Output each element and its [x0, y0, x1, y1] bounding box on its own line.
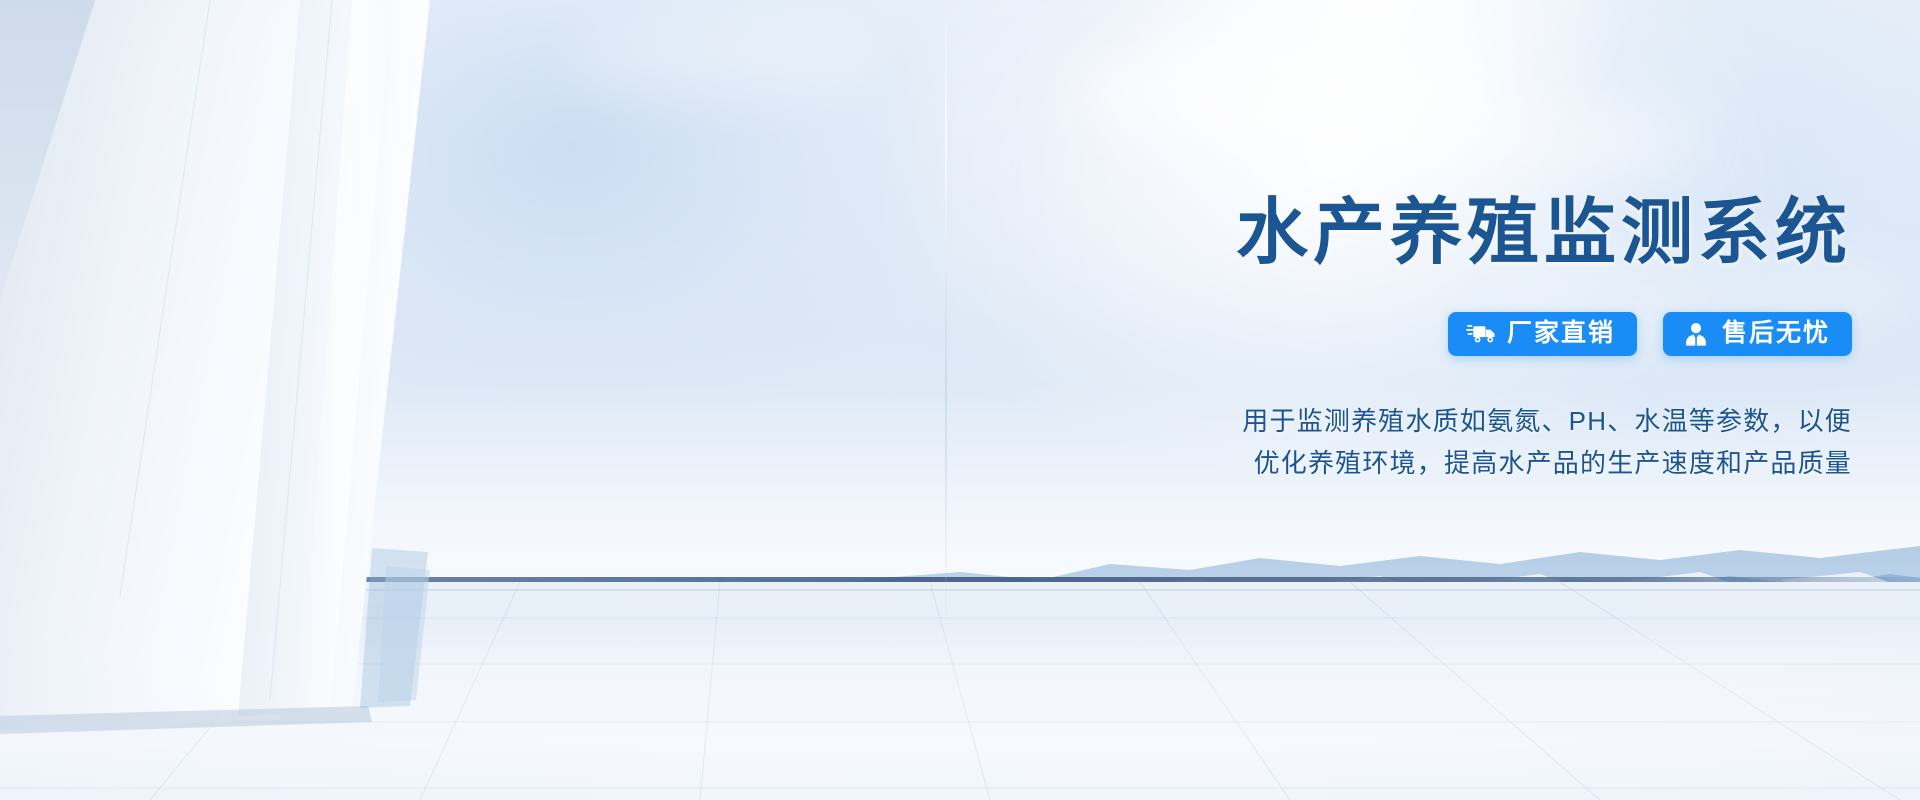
white-angular-building [0, 0, 760, 800]
badge-label: 厂家直销 [1507, 321, 1615, 346]
support-agent-icon-svg [1681, 321, 1711, 347]
description: 用于监测养殖水质如氨氮、PH、水温等参数，以便 优化养殖环境，提高水产品的生产速… [1242, 400, 1852, 484]
badge-after-sales[interactable]: 售后无忧 [1663, 312, 1852, 356]
badge-factory-direct[interactable]: 厂家直销 [1448, 312, 1637, 356]
truck-icon [1466, 321, 1496, 347]
page-title: 水产养殖监测系统 [1236, 196, 1852, 272]
badge-label: 售后无忧 [1722, 321, 1830, 346]
description-line: 用于监测养殖水质如氨氮、PH、水温等参数，以便 [1242, 400, 1852, 442]
glass-panel-seam [945, 0, 947, 640]
description-line: 优化养殖环境，提高水产品的生产速度和产品质量 [1242, 442, 1852, 484]
truck-icon-svg [1466, 321, 1496, 347]
badge-group: 厂家直销 售后无忧 [1448, 312, 1852, 356]
banner-content: 水产养殖监测系统 厂家直销 [1032, 0, 1852, 800]
hero-banner: 水产养殖监测系统 厂家直销 [0, 0, 1920, 800]
building-shapes-svg [0, 0, 760, 800]
support-agent-icon [1681, 321, 1711, 347]
building-glass-sliver [378, 566, 430, 702]
